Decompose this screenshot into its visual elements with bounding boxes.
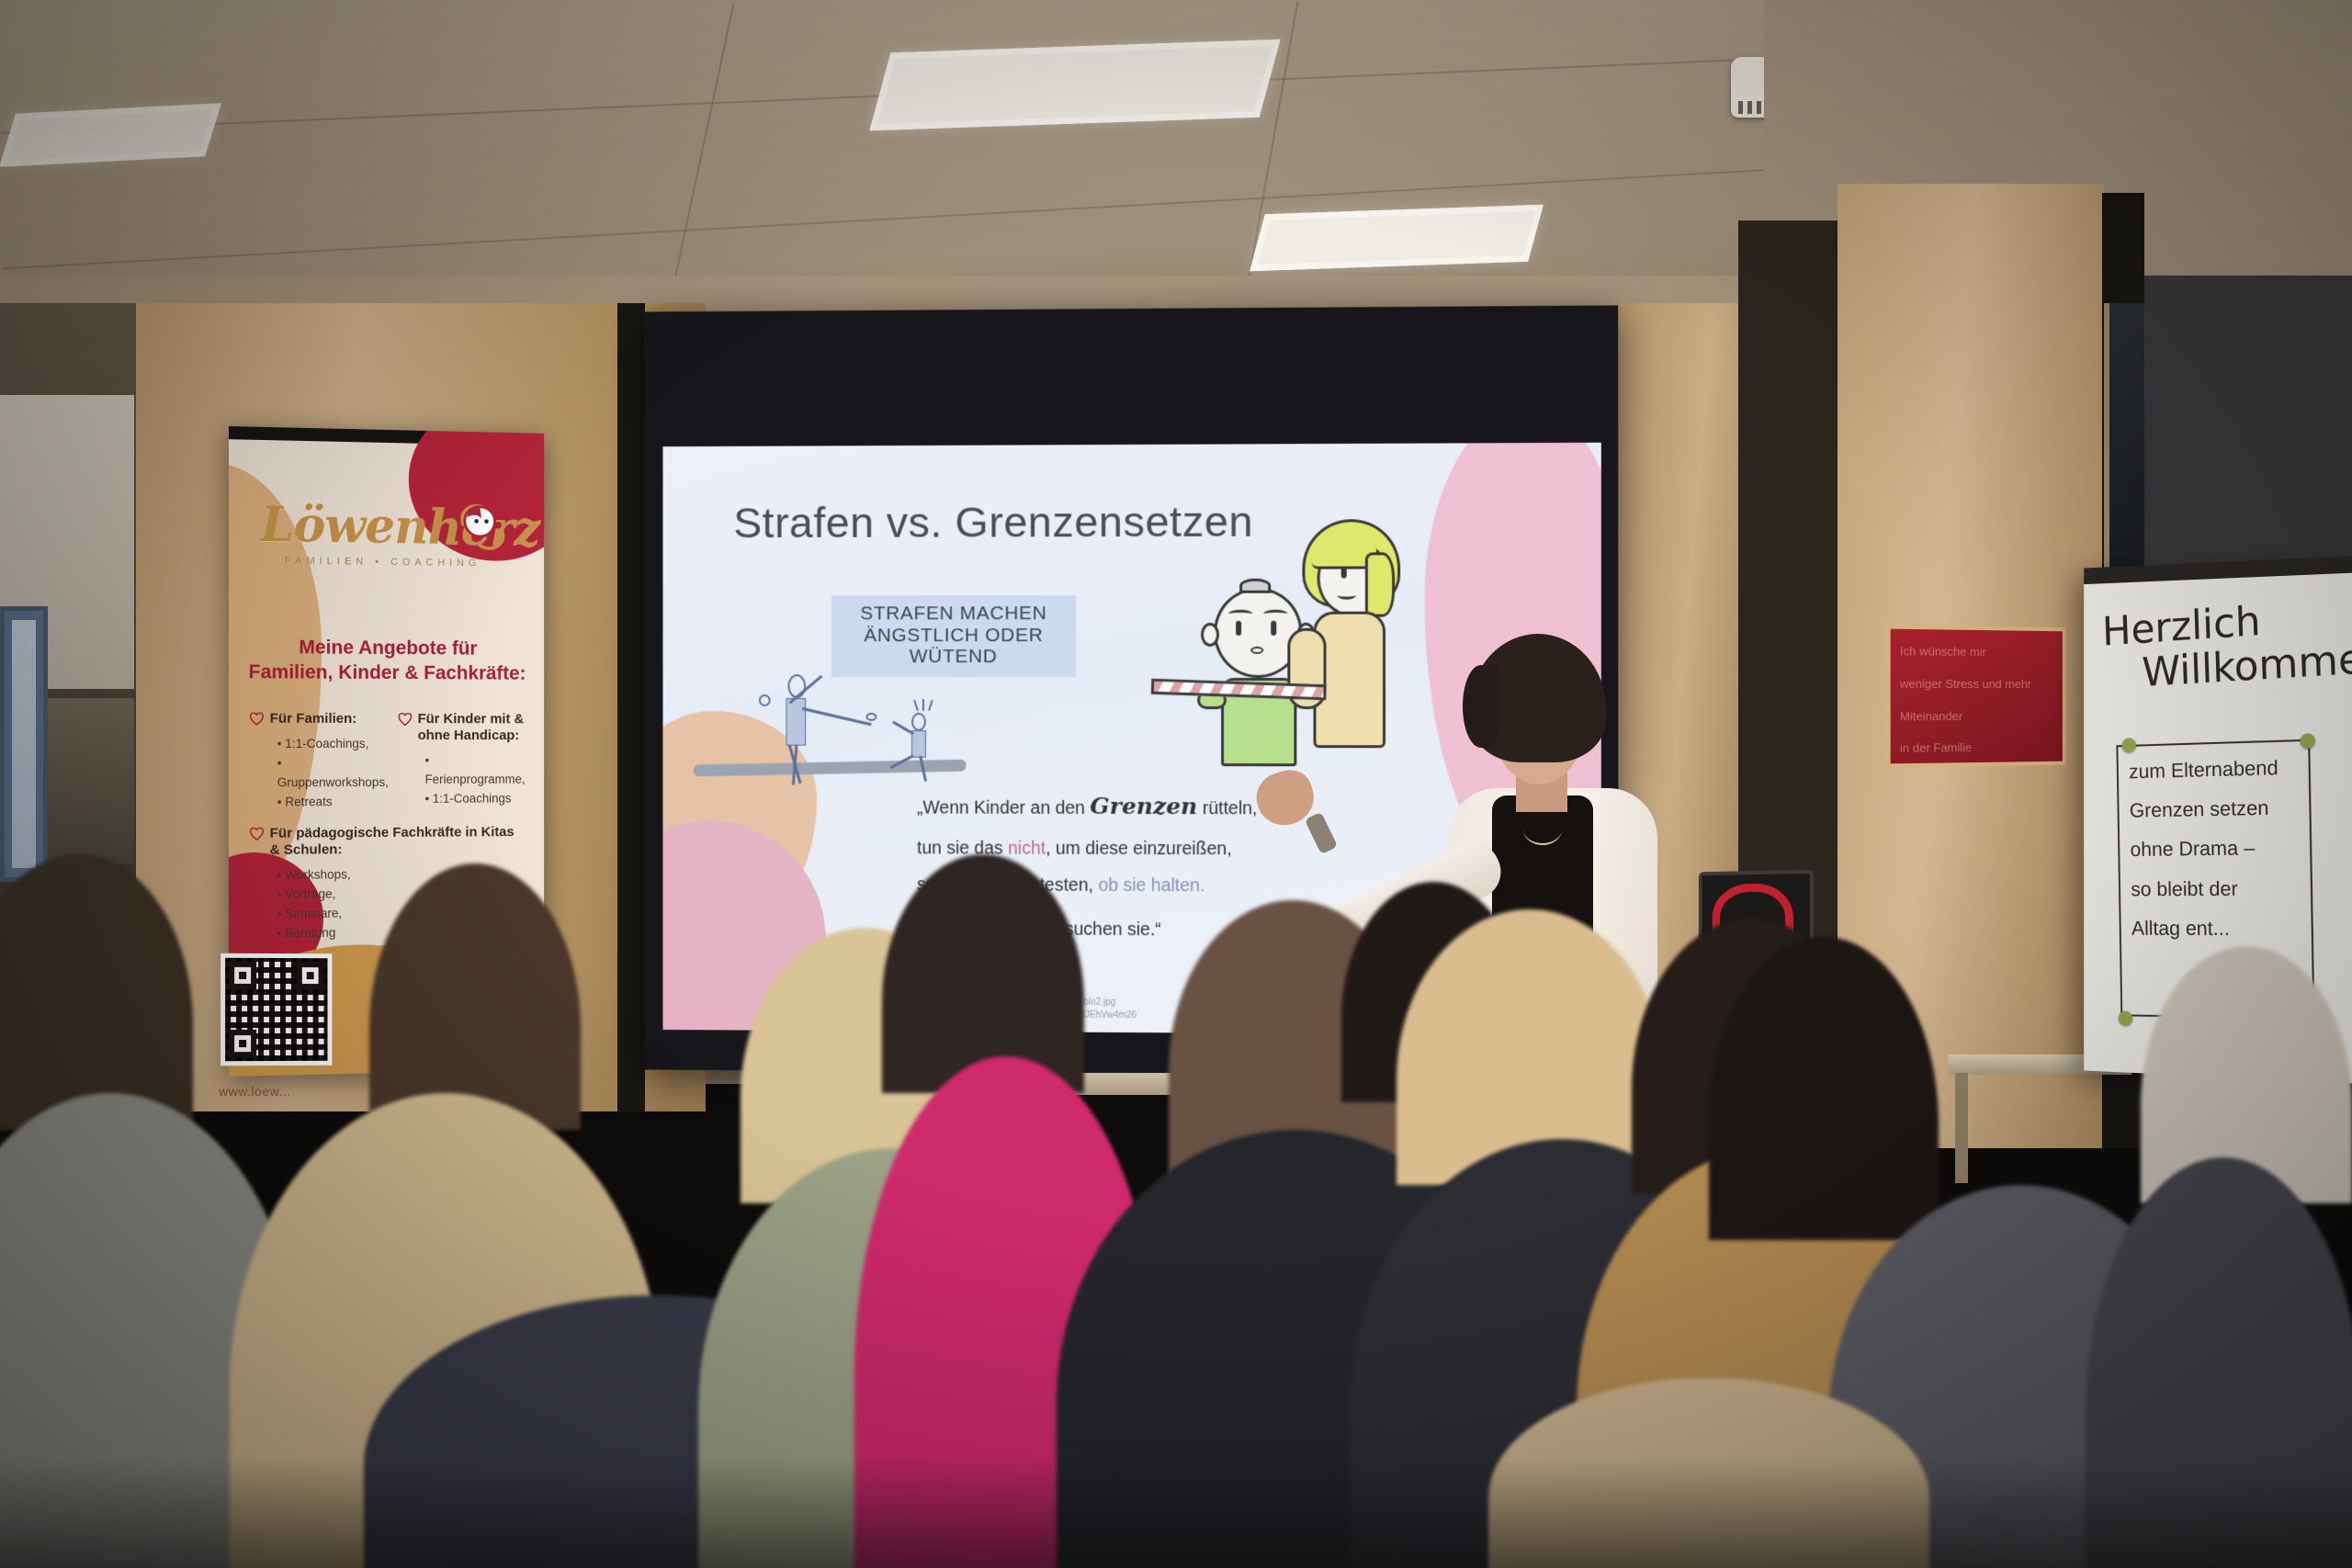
flipchart-card-line: zum Elternabend	[2118, 741, 2309, 786]
flipchart-heading: Herzlich Willkommen	[2101, 593, 2348, 697]
banner-headline-line1: Meine Angebote für	[245, 635, 528, 662]
red-sign-line: weniger Stress und mehr	[1891, 661, 2063, 694]
brand-logo: Löwenherz FAMILIEN • COACHING	[261, 502, 516, 570]
pin-icon	[2119, 1010, 2132, 1025]
banner-list-item: • 1:1-Coachings	[398, 789, 528, 808]
banner-section-title: Für Kinder mit & ohne Handicap:	[398, 711, 528, 744]
ceiling-light-panel	[869, 39, 1280, 131]
callout-line: ÄNGSTLICH ODER	[841, 625, 1067, 647]
banner-section-title-text: Für pädagogische Fachkräfte in Kitas & S…	[270, 824, 514, 858]
cartoon-child-brow	[1228, 610, 1252, 618]
cartoon-adult-mouth	[1338, 592, 1356, 600]
banner-headline: Meine Angebote für Familien, Kinder & Fa…	[245, 635, 528, 687]
wall-shadow-gap	[617, 303, 645, 1111]
callout-line: STRAFEN MACHEN	[841, 603, 1067, 625]
red-sign-line: in der Familie	[1891, 726, 2063, 760]
stick-figure-child	[888, 713, 960, 777]
qr-finder-pattern	[229, 1030, 256, 1057]
flipchart-card-line: Grenzen setzen	[2119, 782, 2310, 825]
heart-icon	[249, 828, 264, 840]
banner-section-title: Für pädagogische Fachkräfte in Kitas & S…	[249, 824, 523, 859]
table-leg	[1955, 1073, 1968, 1183]
slide-title: Strafen vs. Grenzensetzen	[733, 496, 1253, 548]
cartoon-adult-hair-side	[1365, 552, 1395, 616]
photo-scene: Ich wünsche mir weniger Stress und mehr …	[0, 0, 2352, 1568]
red-wall-sign: Ich wünsche mir weniger Stress und mehr …	[1887, 626, 2066, 768]
pin-icon	[2122, 738, 2136, 752]
cartoon-adult	[1293, 519, 1413, 770]
pin-icon	[2301, 733, 2315, 748]
red-sign-line: Miteinander	[1891, 694, 2063, 727]
banner-offer-section: Für Familien: • 1:1-Coachings, • Gruppen…	[249, 711, 388, 813]
cartoon-child-tuft	[1239, 579, 1271, 593]
cartoon-child-mouth	[1250, 647, 1263, 654]
presenter-necklace	[1523, 814, 1562, 845]
banner-offer-section: Für Kinder mit & ohne Handicap: • Ferien…	[398, 711, 528, 812]
stick-figure-adult	[750, 674, 876, 775]
lion-heart-icon	[451, 495, 518, 564]
wall-shadow-gap	[2144, 276, 2352, 579]
presenter-hair-fringe	[1463, 665, 1499, 748]
flipchart-card-line: ohne Drama –	[2120, 822, 2311, 864]
banner-section-title: Für Familien:	[249, 711, 388, 728]
heart-icon	[249, 713, 264, 726]
banner-list-item: • Gruppenworkshops,	[249, 754, 388, 793]
qr-code	[220, 953, 332, 1066]
banner-section-title-text: Für Kinder mit & ohne Handicap:	[418, 711, 524, 743]
quote-line-1: „Wenn Kinder an den Grenzen rütteln,	[917, 783, 1311, 830]
banner-offer-columns: Für Familien: • 1:1-Coachings, • Gruppen…	[249, 711, 527, 813]
red-sign-line: Ich wünsche mir	[1891, 629, 2063, 663]
slide-callout-box: STRAFEN MACHEN ÄNGSTLICH ODER WÜTEND	[831, 595, 1076, 677]
banner-section-title-text: Für Familien:	[270, 711, 357, 727]
noticeboard	[0, 606, 48, 882]
ceiling-light-panel	[0, 103, 221, 166]
flipchart-card-line: Alltag ent...	[2120, 903, 2312, 943]
flipchart-card-line: so bleibt der	[2120, 863, 2311, 904]
cartoon-child-eye	[1236, 621, 1241, 636]
audience-member	[2086, 1157, 2352, 1568]
banner-headline-line2: Familien, Kinder & Fachkräfte:	[245, 660, 528, 686]
qr-finder-pattern	[297, 962, 324, 989]
cartoon-adult-eye	[1341, 567, 1347, 578]
cartoon-child-eye	[1271, 621, 1276, 636]
callout-line: WÜTEND	[841, 646, 1067, 668]
banner-list-item: • Ferienprogramme,	[398, 751, 528, 790]
cartoon-child-brow	[1263, 610, 1287, 618]
qr-finder-pattern	[229, 962, 256, 989]
heart-icon	[398, 713, 413, 726]
cartoon-child-ear	[1201, 623, 1219, 647]
banner-list-item: • Retreats	[249, 793, 388, 813]
banner-list-item: • 1:1-Coachings,	[249, 735, 388, 754]
ceiling-light-panel	[1249, 205, 1543, 271]
